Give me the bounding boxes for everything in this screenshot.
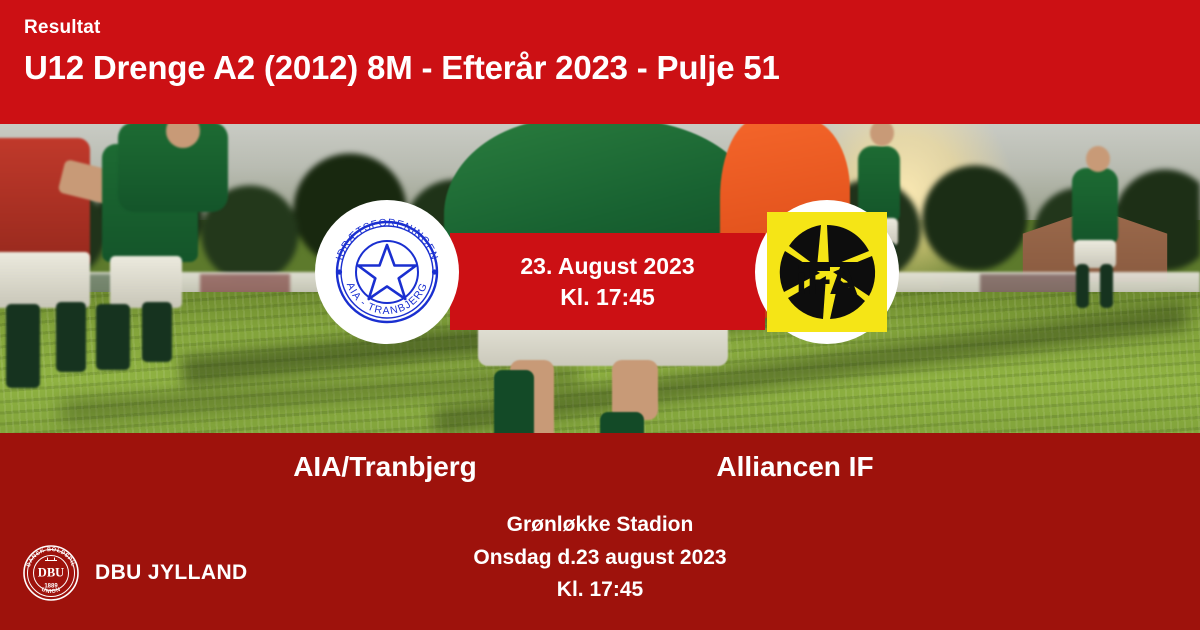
home-team-crest: IDRÆTSFORENINGEN AIA - TRANBJERG [315,200,459,344]
away-team-crest: iFA [755,200,899,344]
player-figure [1076,264,1089,308]
away-team-name: Alliancen IF [575,451,1015,483]
svg-text:IDRÆTSFORENINGEN: IDRÆTSFORENINGEN [334,217,441,262]
player-figure [0,138,90,266]
header-banner: Resultat U12 Drenge A2 (2012) 8M - Efter… [0,0,1200,124]
svg-text:1889: 1889 [44,584,58,590]
home-team-name: AIA/Tranbjerg [155,451,615,483]
match-result-card: Resultat U12 Drenge A2 (2012) 8M - Efter… [0,0,1200,630]
match-date: 23. August 2023 [520,252,694,280]
match-datetime-band: 23. August 2023 Kl. 17:45 [450,233,765,330]
header-kicker: Resultat [24,18,1200,39]
dbu-seal-icon: DANSK BOLDSPIL UNION DBU 1889 [22,544,80,602]
player-figure [6,304,40,388]
aia-tranbjerg-crest-icon: IDRÆTSFORENINGEN AIA - TRANBJERG [324,209,450,335]
foreground-player-sock [494,370,534,433]
player-figure [142,302,172,362]
dbu-logo-group: DANSK BOLDSPIL UNION DBU 1889 DBU JYLLAN… [22,544,248,602]
page-title: U12 Drenge A2 (2012) 8M - Efterår 2023 -… [24,49,1200,87]
venue-name: Grønløkke Stadion [0,509,1200,542]
player-figure [0,252,90,308]
player-figure [1072,168,1118,244]
dbu-organisation-label: DBU JYLLAND [95,561,248,585]
alliancen-if-crest-icon: iFA [773,218,881,326]
alliancen-if-badge: iFA [767,212,887,332]
foreground-player-sock [600,412,644,433]
player-figure [110,256,182,308]
match-time: Kl. 17:45 [560,283,655,311]
team-names-row: AIA/Tranbjerg Alliancen IF [0,451,1200,483]
svg-text:iFA: iFA [796,259,858,303]
player-figure [56,302,86,372]
foreground-player-leg [612,360,658,420]
player-figure [1086,146,1110,172]
player-figure [1100,264,1113,308]
svg-text:DBU: DBU [38,566,64,580]
player-figure [96,304,130,370]
